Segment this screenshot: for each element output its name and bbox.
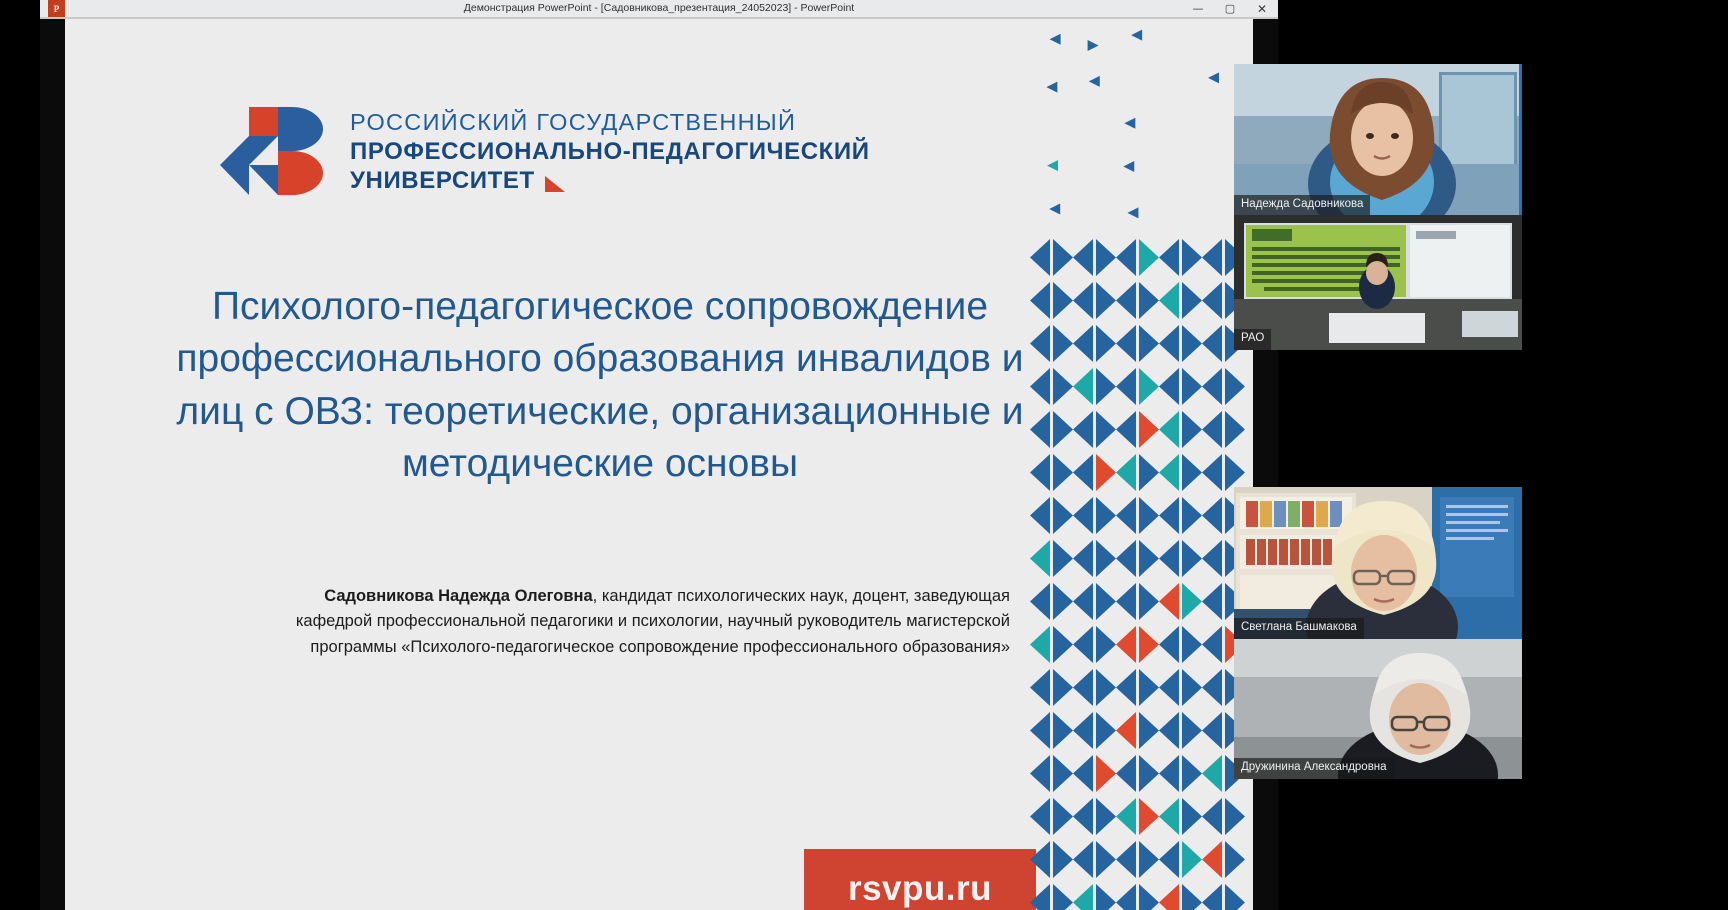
rsvpu-url-badge: rsvpu.ru bbox=[804, 849, 1036, 910]
powerpoint-window: P Демонстрация PowerPoint - [Садовникова… bbox=[40, 0, 1278, 910]
powerpoint-icon: P bbox=[48, 0, 65, 17]
logo-line-2: ПРОФЕССИОНАЛЬНО-ПЕДАГОГИЧЕСКИЙ bbox=[350, 137, 870, 166]
logo-line-3: УНИВЕРСИТЕТ bbox=[350, 166, 870, 195]
participant-tile-2[interactable]: Светлана Башмакова bbox=[1234, 487, 1522, 639]
minimize-button[interactable]: — bbox=[1182, 0, 1214, 17]
video-participants-rail: Надежда Садовникова bbox=[1278, 0, 1728, 910]
participant-tile-3[interactable]: Дружинина Александровна bbox=[1234, 639, 1522, 779]
slide-gutter-left bbox=[40, 19, 65, 910]
maximize-button[interactable]: ▢ bbox=[1214, 0, 1246, 17]
participant-name-0: Надежда Садовникова bbox=[1234, 195, 1370, 216]
decorative-triangle-pattern bbox=[1028, 19, 1253, 910]
slide-title: Психолого-педагогическое сопровождение п… bbox=[175, 281, 1025, 490]
logo-accent-triangle-icon bbox=[545, 176, 565, 192]
logo-line-1: РОССИЙСКИЙ ГОСУДАРСТВЕННЫЙ bbox=[350, 109, 870, 137]
speaking-indicator-0 bbox=[1519, 64, 1522, 216]
close-button[interactable]: ✕ bbox=[1246, 0, 1278, 17]
university-logo: РОССИЙСКИЙ ГОСУДАРСТВЕННЫЙ ПРОФЕССИОНАЛЬ… bbox=[210, 107, 870, 199]
participant-video-0 bbox=[1234, 64, 1522, 216]
slide-author-block: Садовникова Надежда Олеговна, кандидат п… bbox=[290, 584, 1010, 660]
participant-tile-1[interactable]: РАО bbox=[1234, 215, 1522, 350]
participant-video-1 bbox=[1234, 215, 1522, 350]
participant-name-2: Светлана Башмакова bbox=[1234, 618, 1364, 639]
participant-name-1: РАО bbox=[1234, 329, 1271, 350]
participant-tile-0[interactable]: Надежда Садовникова bbox=[1234, 64, 1522, 216]
window-titlebar: P Демонстрация PowerPoint - [Садовникова… bbox=[40, 0, 1278, 17]
participant-video-2 bbox=[1234, 487, 1522, 639]
logo-wordmark: РОССИЙСКИЙ ГОСУДАРСТВЕННЫЙ ПРОФЕССИОНАЛЬ… bbox=[350, 107, 870, 195]
logo-line-3-text: УНИВЕРСИТЕТ bbox=[350, 166, 535, 195]
presentation-slide[interactable]: РОССИЙСКИЙ ГОСУДАРСТВЕННЫЙ ПРОФЕССИОНАЛЬ… bbox=[65, 19, 1253, 910]
participant-name-3: Дружинина Александровна bbox=[1234, 758, 1394, 779]
window-title: Демонстрация PowerPoint - [Садовникова_п… bbox=[40, 0, 1278, 17]
screen: P Демонстрация PowerPoint - [Садовникова… bbox=[0, 0, 1728, 910]
rsvpu-logo-mark bbox=[210, 107, 328, 199]
author-name: Садовникова Надежда Олеговна bbox=[324, 587, 592, 605]
window-controls: — ▢ ✕ bbox=[1182, 0, 1278, 17]
